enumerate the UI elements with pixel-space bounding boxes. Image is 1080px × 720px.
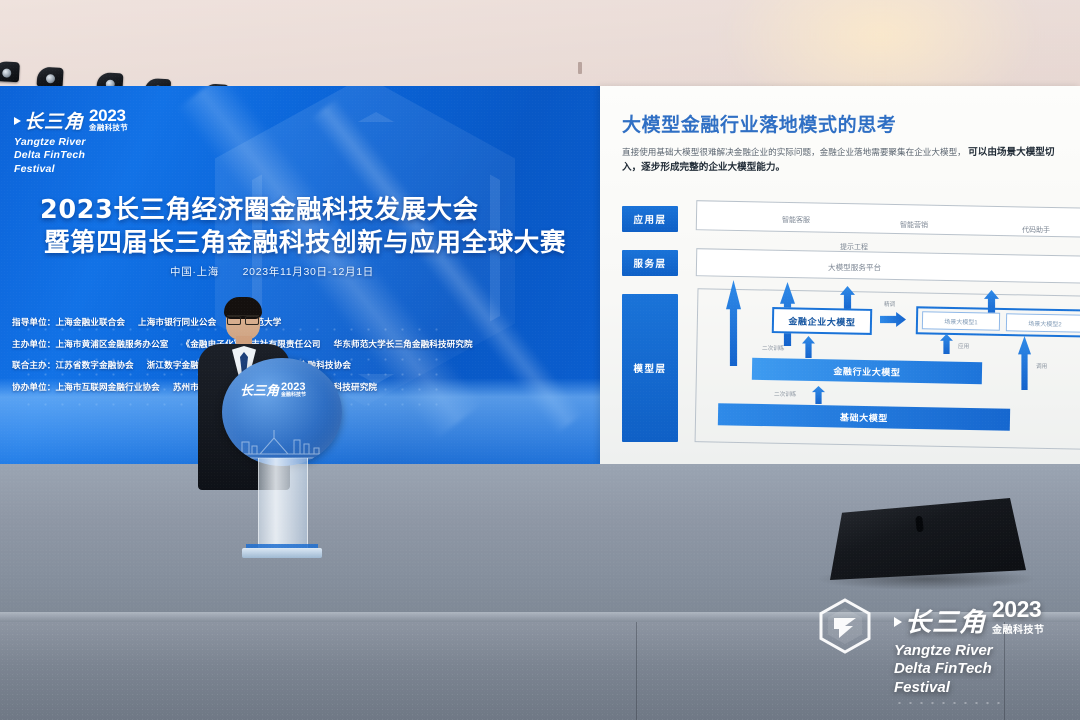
festival-logo-year: 2023 [89, 108, 126, 124]
layer-tag-application: 应用层 [622, 206, 678, 232]
podium-logo: 长三角 2023 金融科技节 [240, 382, 326, 398]
dot-decoration [894, 700, 1004, 706]
watermark-en1: Yangtze River [894, 642, 1066, 660]
model-box-enterprise: 金融企业大模型 [772, 307, 872, 335]
watermark-cn: 长三角 [905, 610, 986, 636]
watermark-en2: Delta FinTech [894, 660, 1066, 678]
festival-logo: 长三角 2023 金融科技节 Yangtze River Delta FinTe… [14, 108, 164, 176]
model-box-industry: 金融行业大模型 [752, 358, 982, 384]
slide-diagram: 应用层 智能客服 智能营销 代码助手 服务层 提示工程 大模型服务平台 模型层 [622, 202, 1080, 446]
arrow-label-invoke: 调用 [1036, 362, 1047, 370]
podium-stem [258, 458, 308, 554]
sponsor-org: 华东师范大学长三角金融科技研究院 [334, 339, 473, 349]
arrow-icon [894, 617, 902, 627]
layer-tag-model: 模型层 [622, 294, 678, 442]
festival-logo-en3: Festival [14, 163, 164, 176]
sponsor-label: 指导单位： [12, 317, 55, 327]
watermark-en3: Festival [894, 679, 1066, 697]
service-item-1: 大模型服务平台 [828, 262, 881, 273]
arrow-label-retrain-2: 二次训练 [762, 344, 784, 352]
sponsor-label: 协办单位： [12, 382, 55, 392]
event-meta: 中国·上海 2023年11月30日-12月1日 [170, 264, 374, 279]
projection-screen: 大模型金融行业落地模式的思考 直接使用基础大模型很难解决金融企业的实际问题，金融… [600, 86, 1080, 464]
sponsor-org: 江苏省数字金融协会 [55, 360, 133, 370]
podium-logo-sub: 金融科技节 [281, 393, 306, 398]
watermark-cn-sub: 金融科技节 [992, 621, 1045, 636]
arrow-icon [14, 117, 21, 125]
sponsor-org: 上海市黄浦区金融服务办公室 [55, 339, 168, 349]
headline-line-1: 2023长三角经济圈金融科技发展大会 [40, 194, 560, 227]
podium: 长三角 2023 金融科技节 [222, 358, 342, 558]
arrow-label-retrain-1: 二次训练 [774, 390, 796, 398]
arrow-label-finetune: 精调 [884, 300, 895, 308]
sponsor-label: 主办单位： [12, 339, 55, 349]
sponsor-label: 联合主办： [12, 360, 55, 370]
podium-logo-cn: 长三角 [240, 385, 279, 398]
headline-line-2: 暨第四届长三角金融科技创新与应用全球大赛 [44, 227, 560, 260]
scenario-model-1: 场景大模型1 [922, 311, 1000, 330]
app-item-3: 代码助手 [1022, 225, 1050, 235]
podium-front-panel: 长三角 2023 金融科技节 [222, 358, 342, 466]
sponsor-row: 指导单位：上海金融业联合会上海市银行同业公会华东师范大学 [12, 318, 592, 327]
festival-logo-cn: 长三角 [24, 113, 84, 132]
service-layer-row [696, 248, 1080, 284]
festival-logo-en1: Yangtze River [14, 136, 164, 149]
sponsor-row: 主办单位：上海市黄浦区金融服务办公室《金融电子化》杂志社有限责任公司华东师范大学… [12, 340, 592, 349]
event-location: 中国·上海 [170, 266, 219, 278]
arrow-label-apply: 应用 [958, 342, 969, 350]
event-dates: 2023年11月30日-12月1日 [243, 266, 374, 278]
slide-title: 大模型金融行业落地模式的思考 [622, 110, 1080, 137]
sponsor-org: 上海市互联网金融行业协会 [55, 382, 159, 392]
festival-logo-en2: Delta FinTech [14, 149, 164, 162]
watermark-logo: 长三角 2023 金融科技节 Yangtze River Delta FinTe… [816, 599, 1066, 706]
skyline-graphic [230, 418, 334, 462]
app-item-2: 智能营销 [900, 220, 928, 230]
sprinkler-head [578, 62, 582, 74]
conference-stage-photo: 长三角 2023 金融科技节 Yangtze River Delta FinTe… [0, 0, 1080, 720]
app-item-1: 智能客服 [782, 215, 810, 225]
hexagon-logo-icon [816, 597, 874, 655]
event-headline: 2023长三角经济圈金融科技发展大会 暨第四届长三角金融科技创新与应用全球大赛 [40, 194, 560, 259]
slide-body-normal: 直接使用基础大模型很难解决金融企业的实际问题，金融企业落地需要聚集在企业大模型， [622, 147, 966, 157]
scenario-model-2: 场景大模型2 [1006, 313, 1080, 332]
watermark-year: 2023 [992, 599, 1045, 621]
layer-tag-service: 服务层 [622, 250, 678, 276]
glasses-icon [227, 315, 259, 323]
festival-logo-cn-sub: 金融科技节 [89, 124, 128, 132]
slide-body: 直接使用基础大模型很难解决金融企业的实际问题，金融企业落地需要聚集在企业大模型，… [622, 146, 1072, 176]
podium-base [242, 548, 322, 558]
sponsor-org: 上海金融业联合会 [55, 317, 125, 327]
